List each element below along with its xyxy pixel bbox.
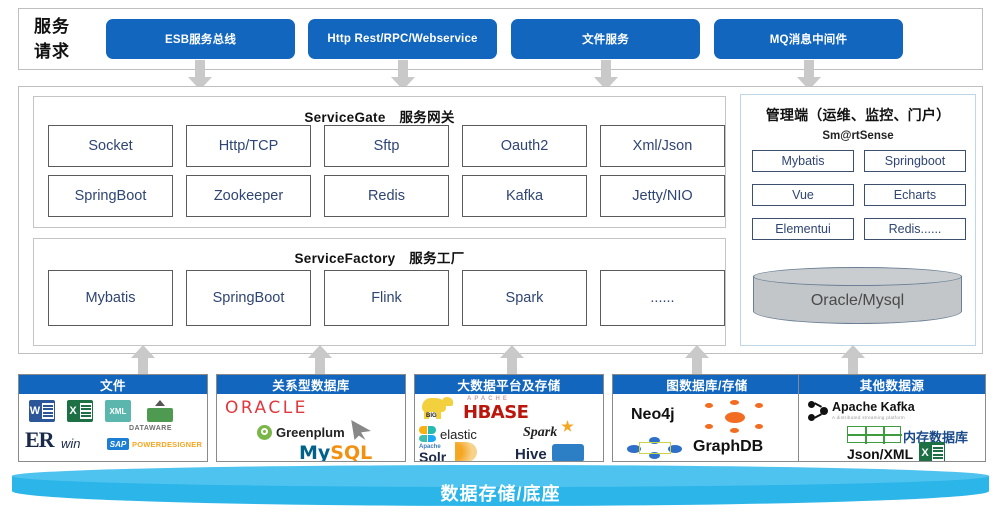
- service-gate-title: ServiceGate 服务网关: [34, 106, 725, 126]
- management-cell-3[interactable]: Vue: [752, 184, 854, 206]
- kafka-sublabel: A distributed streaming platform: [832, 415, 905, 420]
- service-gate-cell-7[interactable]: Zookeeper: [186, 175, 311, 217]
- spark-logo: Spark: [523, 425, 557, 441]
- mysql-sql: SQL: [330, 442, 372, 461]
- arrow-up-1: [131, 345, 155, 375]
- data-source-bigdata-platform: 大数据平台及存储BIGAPACHEHBASEelasticSparkApache…: [414, 374, 604, 462]
- spark-star-icon: [561, 420, 574, 433]
- data-source-body-files: WXXMLERwinDATAWARESAPPOWERDESIGNER: [19, 394, 207, 461]
- management-cell-1[interactable]: Mybatis: [752, 150, 854, 172]
- service-factory-cell-3[interactable]: Flink: [324, 270, 449, 326]
- mysql-my: My: [299, 442, 330, 461]
- data-source-files: 文件WXXMLERwinDATAWARESAPPOWERDESIGNER: [18, 374, 208, 462]
- data-source-title-relational-db: 关系型数据库: [217, 375, 405, 394]
- data-source-body-bigdata-platform: BIGAPACHEHBASEelasticSparkApacheSolrHive: [415, 394, 603, 461]
- base-label: 数据存储/底座: [12, 479, 989, 507]
- hive-box-icon: [552, 444, 584, 461]
- service-factory-cell-4[interactable]: Spark: [462, 270, 587, 326]
- service-factory-cell-5[interactable]: ......: [600, 270, 725, 326]
- arrow-up-2: [308, 345, 332, 375]
- excel-icon-lines: [80, 403, 92, 419]
- powerdesigner-logo: POWERDESIGNER: [132, 440, 202, 449]
- management-database-label: Oracle/Mysql: [753, 287, 962, 315]
- neo4j-logo: Neo4j: [631, 406, 675, 424]
- management-database-cylinder: Oracle/Mysql: [753, 267, 962, 329]
- cylinder-top: [753, 267, 962, 286]
- management-cell-5[interactable]: Elementui: [752, 218, 854, 240]
- data-storage-base: 数据存储/底座: [12, 465, 989, 511]
- service-button-file-service[interactable]: 文件服务: [511, 19, 700, 59]
- management-subtitle: Sm@rtSense: [740, 130, 976, 142]
- arrow-up-4: [685, 345, 709, 375]
- service-gate-cell-4[interactable]: Oauth2: [462, 125, 587, 167]
- excel-icon-letter: X: [67, 400, 79, 422]
- elastic-label: elastic: [440, 427, 477, 442]
- greenplum-label: Greenplum: [276, 425, 345, 440]
- management-cell-2[interactable]: Springboot: [864, 150, 966, 172]
- architecture-diagram: 服务 请求 ESB服务总线Http Rest/RPC/Webservice文件服…: [0, 0, 1001, 515]
- service-request-label-line1: 服务: [34, 14, 106, 39]
- kafka-logo: [807, 400, 829, 422]
- oracle-logo: ORACLE: [225, 398, 308, 418]
- data-source-title-bigdata-platform: 大数据平台及存储: [415, 375, 603, 394]
- excel-icon-lines: [932, 445, 944, 461]
- data-source-title-graph-db: 图数据库/存储: [613, 375, 801, 394]
- hadoop-logo: BIG: [420, 396, 454, 420]
- data-source-body-relational-db: ORACLEGreenplumMySQL: [217, 394, 405, 461]
- management-title: 管理端（运维、监控、门户）: [740, 105, 976, 125]
- excel-icon: X: [67, 400, 93, 422]
- dataware-logo: DATAWARE: [129, 425, 172, 432]
- service-gate-cell-1[interactable]: Socket: [48, 125, 173, 167]
- table-icon: [847, 426, 901, 443]
- json-xml-label: Json/XML: [847, 446, 913, 461]
- graphdb-logo: GraphDB: [693, 438, 763, 456]
- arrow-up-5: [841, 345, 865, 375]
- word-icon-lines: [42, 403, 54, 419]
- service-gate-cell-2[interactable]: Http/TCP: [186, 125, 311, 167]
- service-factory-title: ServiceFactory 服务工厂: [34, 247, 725, 267]
- service-request-label-line2: 请求: [34, 39, 106, 64]
- data-source-body-graph-db: Neo4jGraphDB: [613, 394, 801, 461]
- service-button-http-rest[interactable]: Http Rest/RPC/Webservice: [308, 19, 497, 59]
- service-gate-cell-8[interactable]: Redis: [324, 175, 449, 217]
- greenplum-logo: Greenplum: [257, 424, 345, 442]
- erwin-logo: ER: [25, 427, 54, 453]
- solr-logo: Solr: [419, 449, 446, 461]
- service-factory-cell-1[interactable]: Mybatis: [48, 270, 173, 326]
- word-icon: W: [29, 400, 55, 422]
- service-factory-cell-2[interactable]: SpringBoot: [186, 270, 311, 326]
- erwin-sub: win: [61, 436, 81, 451]
- data-source-body-other-sources: Apache KafkaA distributed streaming plat…: [799, 394, 985, 461]
- solr-sun-icon: [455, 442, 477, 461]
- data-source-title-files: 文件: [19, 375, 207, 394]
- green-doc-icon: [147, 400, 173, 422]
- service-button-mq[interactable]: MQ消息中间件: [714, 19, 903, 59]
- service-request-label: 服务 请求: [34, 14, 106, 64]
- word-icon-letter: W: [29, 400, 41, 422]
- dolphin-cursor-icon: [349, 420, 371, 440]
- kafka-label: Apache Kafka: [832, 400, 915, 414]
- data-source-other-sources: 其他数据源Apache KafkaA distributed streaming…: [798, 374, 986, 462]
- orange-graph-icon: [703, 400, 765, 434]
- excel-icon: X: [919, 442, 945, 461]
- service-gate-cell-9[interactable]: Kafka: [462, 175, 587, 217]
- excel-icon-letter: X: [919, 442, 931, 461]
- service-gate-cell-6[interactable]: SpringBoot: [48, 175, 173, 217]
- management-cell-4[interactable]: Echarts: [864, 184, 966, 206]
- data-source-title-other-sources: 其他数据源: [799, 375, 985, 394]
- management-cell-6[interactable]: Redis......: [864, 218, 966, 240]
- hbase-logo: HBASE: [463, 402, 528, 423]
- service-button-esb[interactable]: ESB服务总线: [106, 19, 295, 59]
- xml-icon: XML: [105, 400, 131, 422]
- arrow-up-3: [500, 345, 524, 375]
- data-source-relational-db: 关系型数据库ORACLEGreenplumMySQL: [216, 374, 406, 462]
- mysql-logo: MySQL: [299, 442, 372, 461]
- data-source-graph-db: 图数据库/存储Neo4jGraphDB: [612, 374, 802, 462]
- sap-logo: SAP: [107, 438, 129, 450]
- service-gate-cell-5[interactable]: Xml/Json: [600, 125, 725, 167]
- hive-logo: Hive: [515, 446, 547, 461]
- service-gate-cell-10[interactable]: Jetty/NIO: [600, 175, 725, 217]
- blue-graph-icon: [627, 436, 683, 460]
- service-gate-cell-3[interactable]: Sftp: [324, 125, 449, 167]
